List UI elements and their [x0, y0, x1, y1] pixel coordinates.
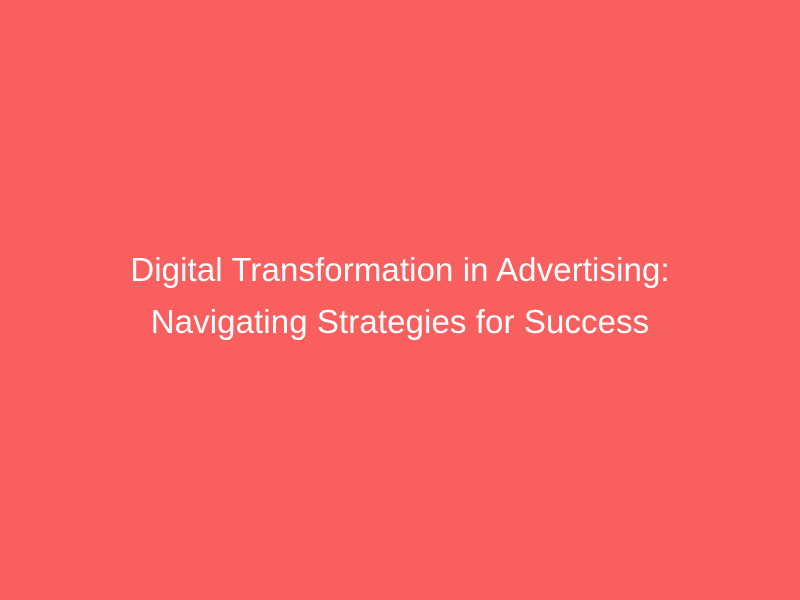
title-card: Digital Transformation in Advertising: N…: [0, 0, 800, 600]
page-title-line-2: Navigating Strategies for Success: [60, 296, 740, 348]
page-title-line-1: Digital Transformation in Advertising:: [60, 244, 740, 296]
page-title: Digital Transformation in Advertising: N…: [60, 244, 740, 348]
title-block: Digital Transformation in Advertising: N…: [0, 244, 800, 348]
